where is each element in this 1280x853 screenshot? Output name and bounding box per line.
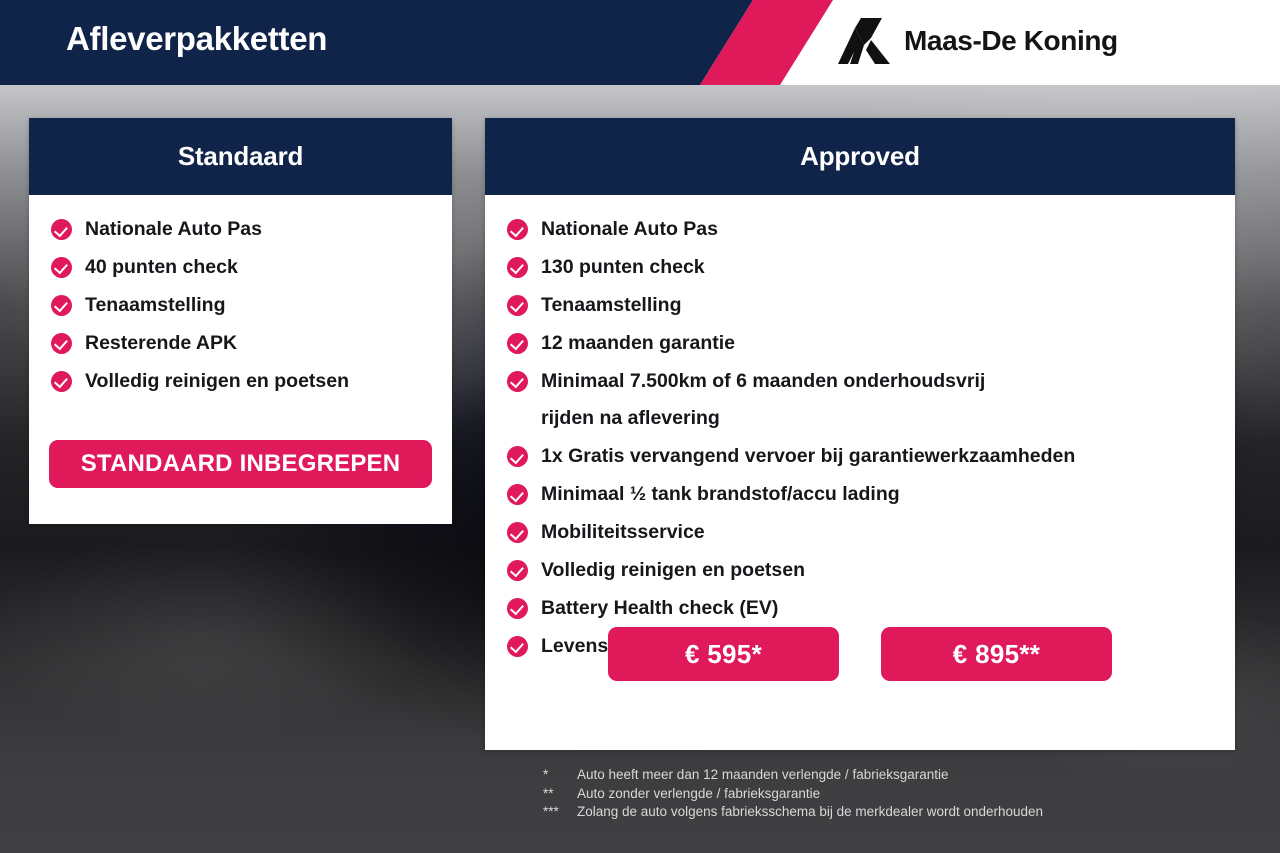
feature-label: Minimaal ½ tank brandstof/accu lading (541, 482, 900, 506)
footnote-marker: * (543, 766, 577, 785)
footnote-text: Auto heeft meer dan 12 maanden verlengde… (577, 766, 949, 785)
page-root: Afleverpakketten Maas-De Koning Standaar… (0, 0, 1280, 853)
check-circle-icon (507, 371, 528, 392)
brand-name: Maas-De Koning (904, 25, 1118, 57)
page-title: Afleverpakketten (66, 20, 327, 58)
feature-label: Nationale Auto Pas (85, 217, 262, 241)
check-circle-icon (507, 219, 528, 240)
feature-label: Tenaamstelling (541, 293, 682, 317)
check-circle-icon (507, 446, 528, 467)
check-circle-icon (507, 257, 528, 278)
feature-label: 12 maanden garantie (541, 331, 735, 355)
check-circle-icon (51, 295, 72, 316)
check-circle-icon (507, 484, 528, 505)
feature-label: 130 punten check (541, 255, 705, 279)
list-item: Minimaal 7.500km of 6 maanden onderhouds… (507, 369, 1235, 393)
feature-label: Resterende APK (85, 331, 237, 355)
brand-lockup: Maas-De Koning (838, 18, 1118, 64)
list-item: Tenaamstelling (507, 293, 1235, 317)
list-item: 40 punten check (51, 255, 452, 279)
list-item: Volledig reinigen en poetsen (507, 558, 1235, 582)
footnote-text: Zolang de auto volgens fabrieksschema bi… (577, 803, 1043, 822)
feature-label: Minimaal 7.500km of 6 maanden onderhouds… (541, 369, 985, 393)
list-item-continuation: rijden na aflevering (507, 406, 1235, 430)
feature-label: Mobiliteitsservice (541, 520, 705, 544)
list-item: 130 punten check (507, 255, 1235, 279)
package-card-standaard: Standaard Nationale Auto Pas 40 punten c… (29, 118, 452, 524)
check-circle-icon (51, 219, 72, 240)
check-circle-icon (507, 522, 528, 543)
card-title-approved: Approved (800, 141, 920, 172)
list-item: Tenaamstelling (51, 293, 452, 317)
list-item: Volledig reinigen en poetsen (51, 369, 452, 393)
list-item: Minimaal ½ tank brandstof/accu lading (507, 482, 1235, 506)
check-circle-icon (51, 333, 72, 354)
footnotes: * Auto heeft meer dan 12 maanden verleng… (543, 766, 1043, 822)
price-button-595[interactable]: € 595* (608, 627, 839, 681)
footnote-text: Auto zonder verlengde / fabrieksgarantie (577, 785, 820, 804)
feature-label: Volledig reinigen en poetsen (85, 369, 349, 393)
price-button-895[interactable]: € 895** (881, 627, 1112, 681)
card-title-standaard: Standaard (178, 141, 303, 172)
footnote-marker: *** (543, 803, 577, 822)
list-item: Battery Health check (EV) (507, 596, 1235, 620)
check-circle-icon (507, 295, 528, 316)
check-circle-icon (507, 598, 528, 619)
footnote: ** Auto zonder verlengde / fabrieksgaran… (543, 785, 1043, 804)
feature-label: Volledig reinigen en poetsen (541, 558, 805, 582)
price-button-row: € 595* € 895** (485, 627, 1235, 681)
footnote: * Auto heeft meer dan 12 maanden verleng… (543, 766, 1043, 785)
check-circle-icon (507, 560, 528, 581)
feature-list-standaard: Nationale Auto Pas 40 punten check Tenaa… (51, 217, 452, 393)
feature-label: 1x Gratis vervangend vervoer bij garanti… (541, 444, 1075, 468)
feature-list-approved: Nationale Auto Pas 130 punten check Tena… (507, 217, 1235, 658)
list-item: Resterende APK (51, 331, 452, 355)
check-circle-icon-placeholder (507, 408, 528, 429)
list-item: 12 maanden garantie (507, 331, 1235, 355)
list-item: 1x Gratis vervangend vervoer bij garanti… (507, 444, 1235, 468)
page-header: Afleverpakketten Maas-De Koning (0, 0, 1280, 85)
feature-label: rijden na aflevering (541, 406, 720, 430)
footnote-marker: ** (543, 785, 577, 804)
list-item: Nationale Auto Pas (51, 217, 452, 241)
maas-de-koning-m-mark-icon (838, 18, 890, 64)
check-circle-icon (51, 371, 72, 392)
feature-label: Nationale Auto Pas (541, 217, 718, 241)
package-card-approved: Approved Nationale Auto Pas 130 punten c… (485, 118, 1235, 750)
check-circle-icon (507, 333, 528, 354)
feature-label: Tenaamstelling (85, 293, 226, 317)
list-item: Nationale Auto Pas (507, 217, 1235, 241)
feature-label: 40 punten check (85, 255, 238, 279)
check-circle-icon (51, 257, 72, 278)
footnote: *** Zolang de auto volgens fabrieksschem… (543, 803, 1043, 822)
list-item: Mobiliteitsservice (507, 520, 1235, 544)
standaard-inbegrepen-button[interactable]: STANDAARD INBEGREPEN (49, 440, 432, 488)
card-header-approved: Approved (485, 118, 1235, 195)
card-header-standaard: Standaard (29, 118, 452, 195)
feature-label: Battery Health check (EV) (541, 596, 778, 620)
